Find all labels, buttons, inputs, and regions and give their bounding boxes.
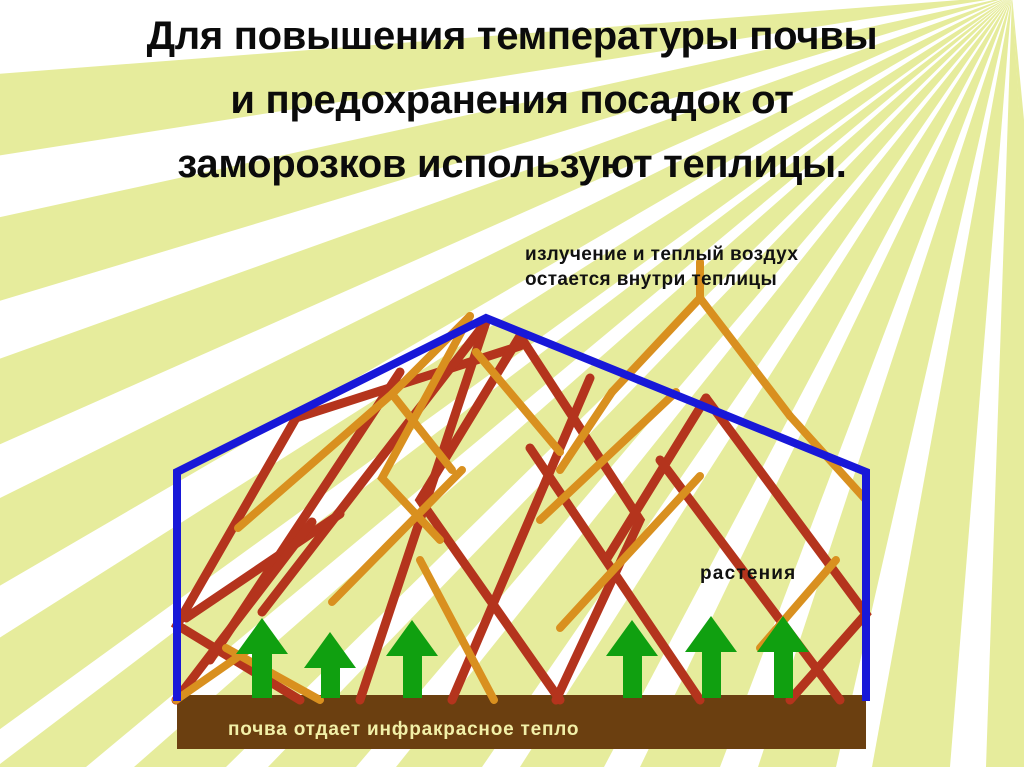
greenhouse-diagram bbox=[0, 0, 1024, 767]
annotation-radiation: излучение и теплый воздух остается внутр… bbox=[525, 242, 798, 292]
annotation-soil: почва отдает инфракрасное тепло bbox=[228, 719, 579, 741]
slide-canvas: Для повышения температуры почвы и предох… bbox=[0, 0, 1024, 767]
infrared-arrow bbox=[386, 620, 438, 698]
annotation-plants: растения bbox=[700, 563, 796, 585]
annotation-radiation-line-2: остается внутри теплицы bbox=[525, 267, 798, 292]
infrared-arrow bbox=[304, 632, 356, 698]
infrared-arrows bbox=[236, 616, 809, 698]
annotation-radiation-line-1: излучение и теплый воздух bbox=[525, 244, 798, 265]
